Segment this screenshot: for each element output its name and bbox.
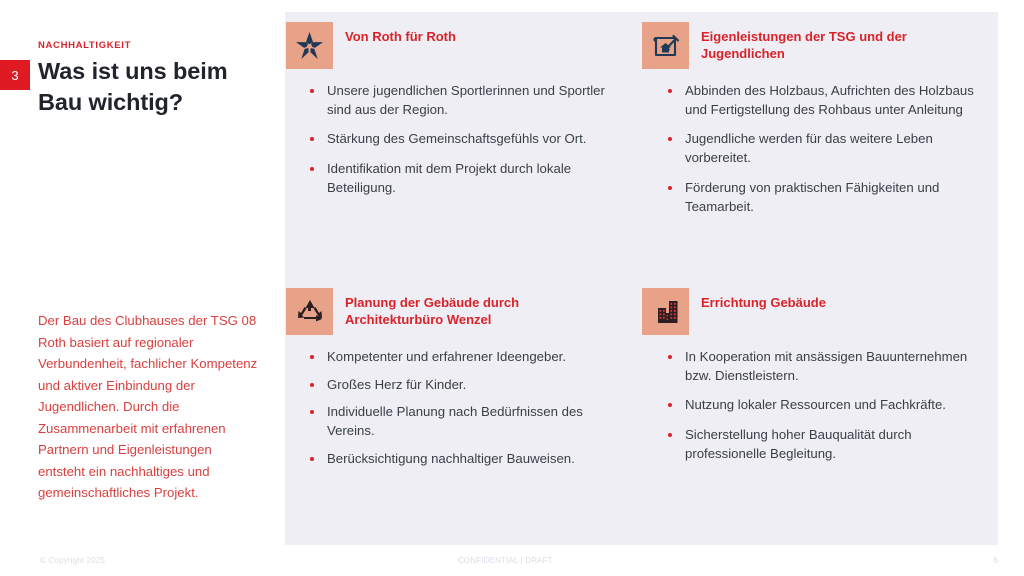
list-item: In Kooperation mit ansässigen Bauunterne… [661, 348, 984, 385]
list-item: Sicherstellung hoher Bauqualität durch p… [661, 426, 984, 463]
list-item: Abbinden des Holzbaus, Aufrichten des Ho… [661, 82, 984, 119]
card-bullet-list: Unsere jugendlichen Sportlerinnen und Sp… [285, 82, 641, 198]
list-item: Nutzung lokaler Ressourcen und Fachkräft… [661, 396, 984, 415]
card-title: Errichtung Gebäude [701, 288, 842, 311]
list-item: Individuelle Planung nach Bedürfnissen d… [303, 403, 627, 440]
page-title: Was ist uns beim Bau wichtig? [38, 56, 263, 119]
card-bullet-list: Kompetenter und erfahrener Ideengeber. G… [285, 348, 641, 469]
footer-copyright: © Copyright 2025 [40, 556, 105, 565]
slide-number-badge: 3 [0, 60, 30, 90]
section-eyebrow-label: NACHHALTIGKEIT [38, 40, 131, 51]
card-header: Errichtung Gebäude [641, 278, 998, 335]
card-bullet-list: In Kooperation mit ansässigen Bauunterne… [641, 348, 998, 464]
card-header: Planung der Gebäude durch Architekturbür… [285, 278, 641, 335]
left-column: NACHHALTIGKEIT 3 Was ist uns beim Bau wi… [0, 0, 272, 545]
card-von-roth-fuer-roth: Von Roth für Roth Unsere jugendlichen Sp… [285, 12, 641, 278]
cards-grid: Von Roth für Roth Unsere jugendlichen Sp… [285, 12, 998, 545]
list-item: Jugendliche werden für das weitere Leben… [661, 130, 984, 167]
card-errichtung-gebaeude: Errichtung Gebäude In Kooperation mit an… [641, 278, 998, 545]
buildings-icon [642, 288, 689, 335]
summary-paragraph: Der Bau des Clubhauses der TSG 08 Roth b… [38, 310, 260, 504]
list-item: Berücksichtigung nachhaltiger Bauweisen. [303, 450, 627, 469]
star-hands-icon [286, 22, 333, 69]
blueprint-house-pencil-icon [642, 22, 689, 69]
card-header: Eigenleistungen der TSG und der Jugendli… [641, 12, 998, 69]
list-item: Unsere jugendlichen Sportlerinnen und Sp… [303, 82, 627, 119]
list-item: Großes Herz für Kinder. [303, 376, 627, 395]
card-title: Von Roth für Roth [345, 22, 472, 45]
footer-confidentiality-notice: CONFIDENTIAL | DRAFT [458, 556, 553, 565]
footer-page-number: 6 [993, 556, 998, 565]
content-panel: Von Roth für Roth Unsere jugendlichen Sp… [285, 12, 998, 545]
card-title: Eigenleistungen der TSG und der Jugendli… [701, 22, 981, 63]
card-title: Planung der Gebäude durch Architekturbür… [345, 288, 613, 329]
card-header: Von Roth für Roth [285, 12, 641, 69]
recycle-icon [286, 288, 333, 335]
card-eigenleistungen: Eigenleistungen der TSG und der Jugendli… [641, 12, 998, 278]
card-planung-gebaeude: Planung der Gebäude durch Architekturbür… [285, 278, 641, 545]
list-item: Identifikation mit dem Projekt durch lok… [303, 160, 627, 197]
list-item: Förderung von praktischen Fähigkeiten un… [661, 179, 984, 216]
card-bullet-list: Abbinden des Holzbaus, Aufrichten des Ho… [641, 82, 998, 216]
list-item: Stärkung des Gemeinschaftsgefühls vor Or… [303, 130, 627, 149]
list-item: Kompetenter und erfahrener Ideengeber. [303, 348, 627, 367]
slide-footer: © Copyright 2025 CONFIDENTIAL | DRAFT 6 [0, 545, 1024, 576]
